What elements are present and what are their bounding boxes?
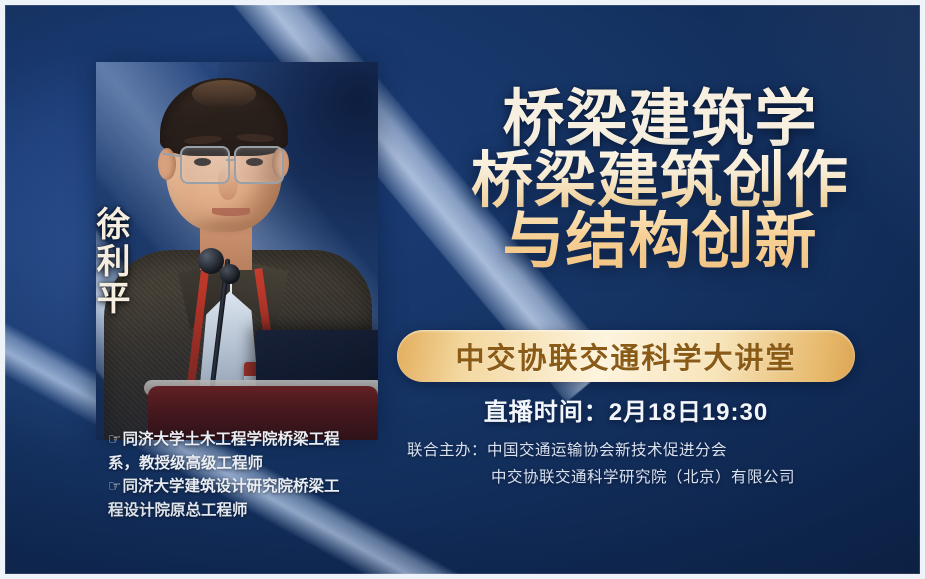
event-series-badge: 中交协联交通科学大讲堂 xyxy=(397,330,855,382)
organizer-line-1: 联合主办：中国交通运输协会新技术促进分会 xyxy=(407,438,907,465)
title-line-2: 桥梁建筑创作 xyxy=(395,149,925,212)
pointing-hand-icon: ☞ xyxy=(108,476,121,499)
right-content-column: 桥梁建筑学 桥梁建筑创作 与结构创新 中交协联交通科学大讲堂 直播时间：2月18… xyxy=(395,0,925,579)
bio-line-text: 程设计院原总工程师 xyxy=(108,502,248,519)
organizers-block: 联合主办：中国交通运输协会新技术促进分会 中交协联交通科学研究院（北京）有限公司 xyxy=(407,438,907,491)
bio-line-text: 系，教授级高级工程师 xyxy=(108,455,263,472)
bio-line: 程设计院原总工程师 xyxy=(108,499,390,523)
broadcast-time-text: 直播时间：2月18日19:30 xyxy=(397,392,855,427)
pointing-hand-icon: ☞ xyxy=(108,429,121,452)
speaker-photo xyxy=(96,62,378,440)
organizer-line-2: 中交协联交通科学研究院（北京）有限公司 xyxy=(407,465,907,492)
bio-line: ☞同济大学建筑设计研究院桥梁工 xyxy=(108,475,390,499)
title-line-3: 与结构创新 xyxy=(395,210,925,273)
event-series-badge-label: 中交协联交通科学大讲堂 xyxy=(455,335,796,377)
poster-canvas: 徐利平 ☞同济大学土木工程学院桥梁工程 系，教授级高级工程师 ☞同济大学建筑设计… xyxy=(0,0,925,579)
bio-line-text: 同济大学土木工程学院桥梁工程 xyxy=(122,431,339,448)
speaker-bio-block: ☞同济大学土木工程学院桥梁工程 系，教授级高级工程师 ☞同济大学建筑设计研究院桥… xyxy=(108,428,390,523)
poster-title-block: 桥梁建筑学 桥梁建筑创作 与结构创新 xyxy=(395,88,925,274)
photo-bottom-shade xyxy=(96,62,378,440)
bio-line: ☞同济大学土木工程学院桥梁工程 xyxy=(108,428,390,452)
bio-line: 系，教授级高级工程师 xyxy=(108,452,390,476)
title-line-1: 桥梁建筑学 xyxy=(395,88,925,151)
bio-line-text: 同济大学建筑设计研究院桥梁工 xyxy=(122,478,339,495)
speaker-name-vertical: 徐利平 xyxy=(93,206,127,317)
